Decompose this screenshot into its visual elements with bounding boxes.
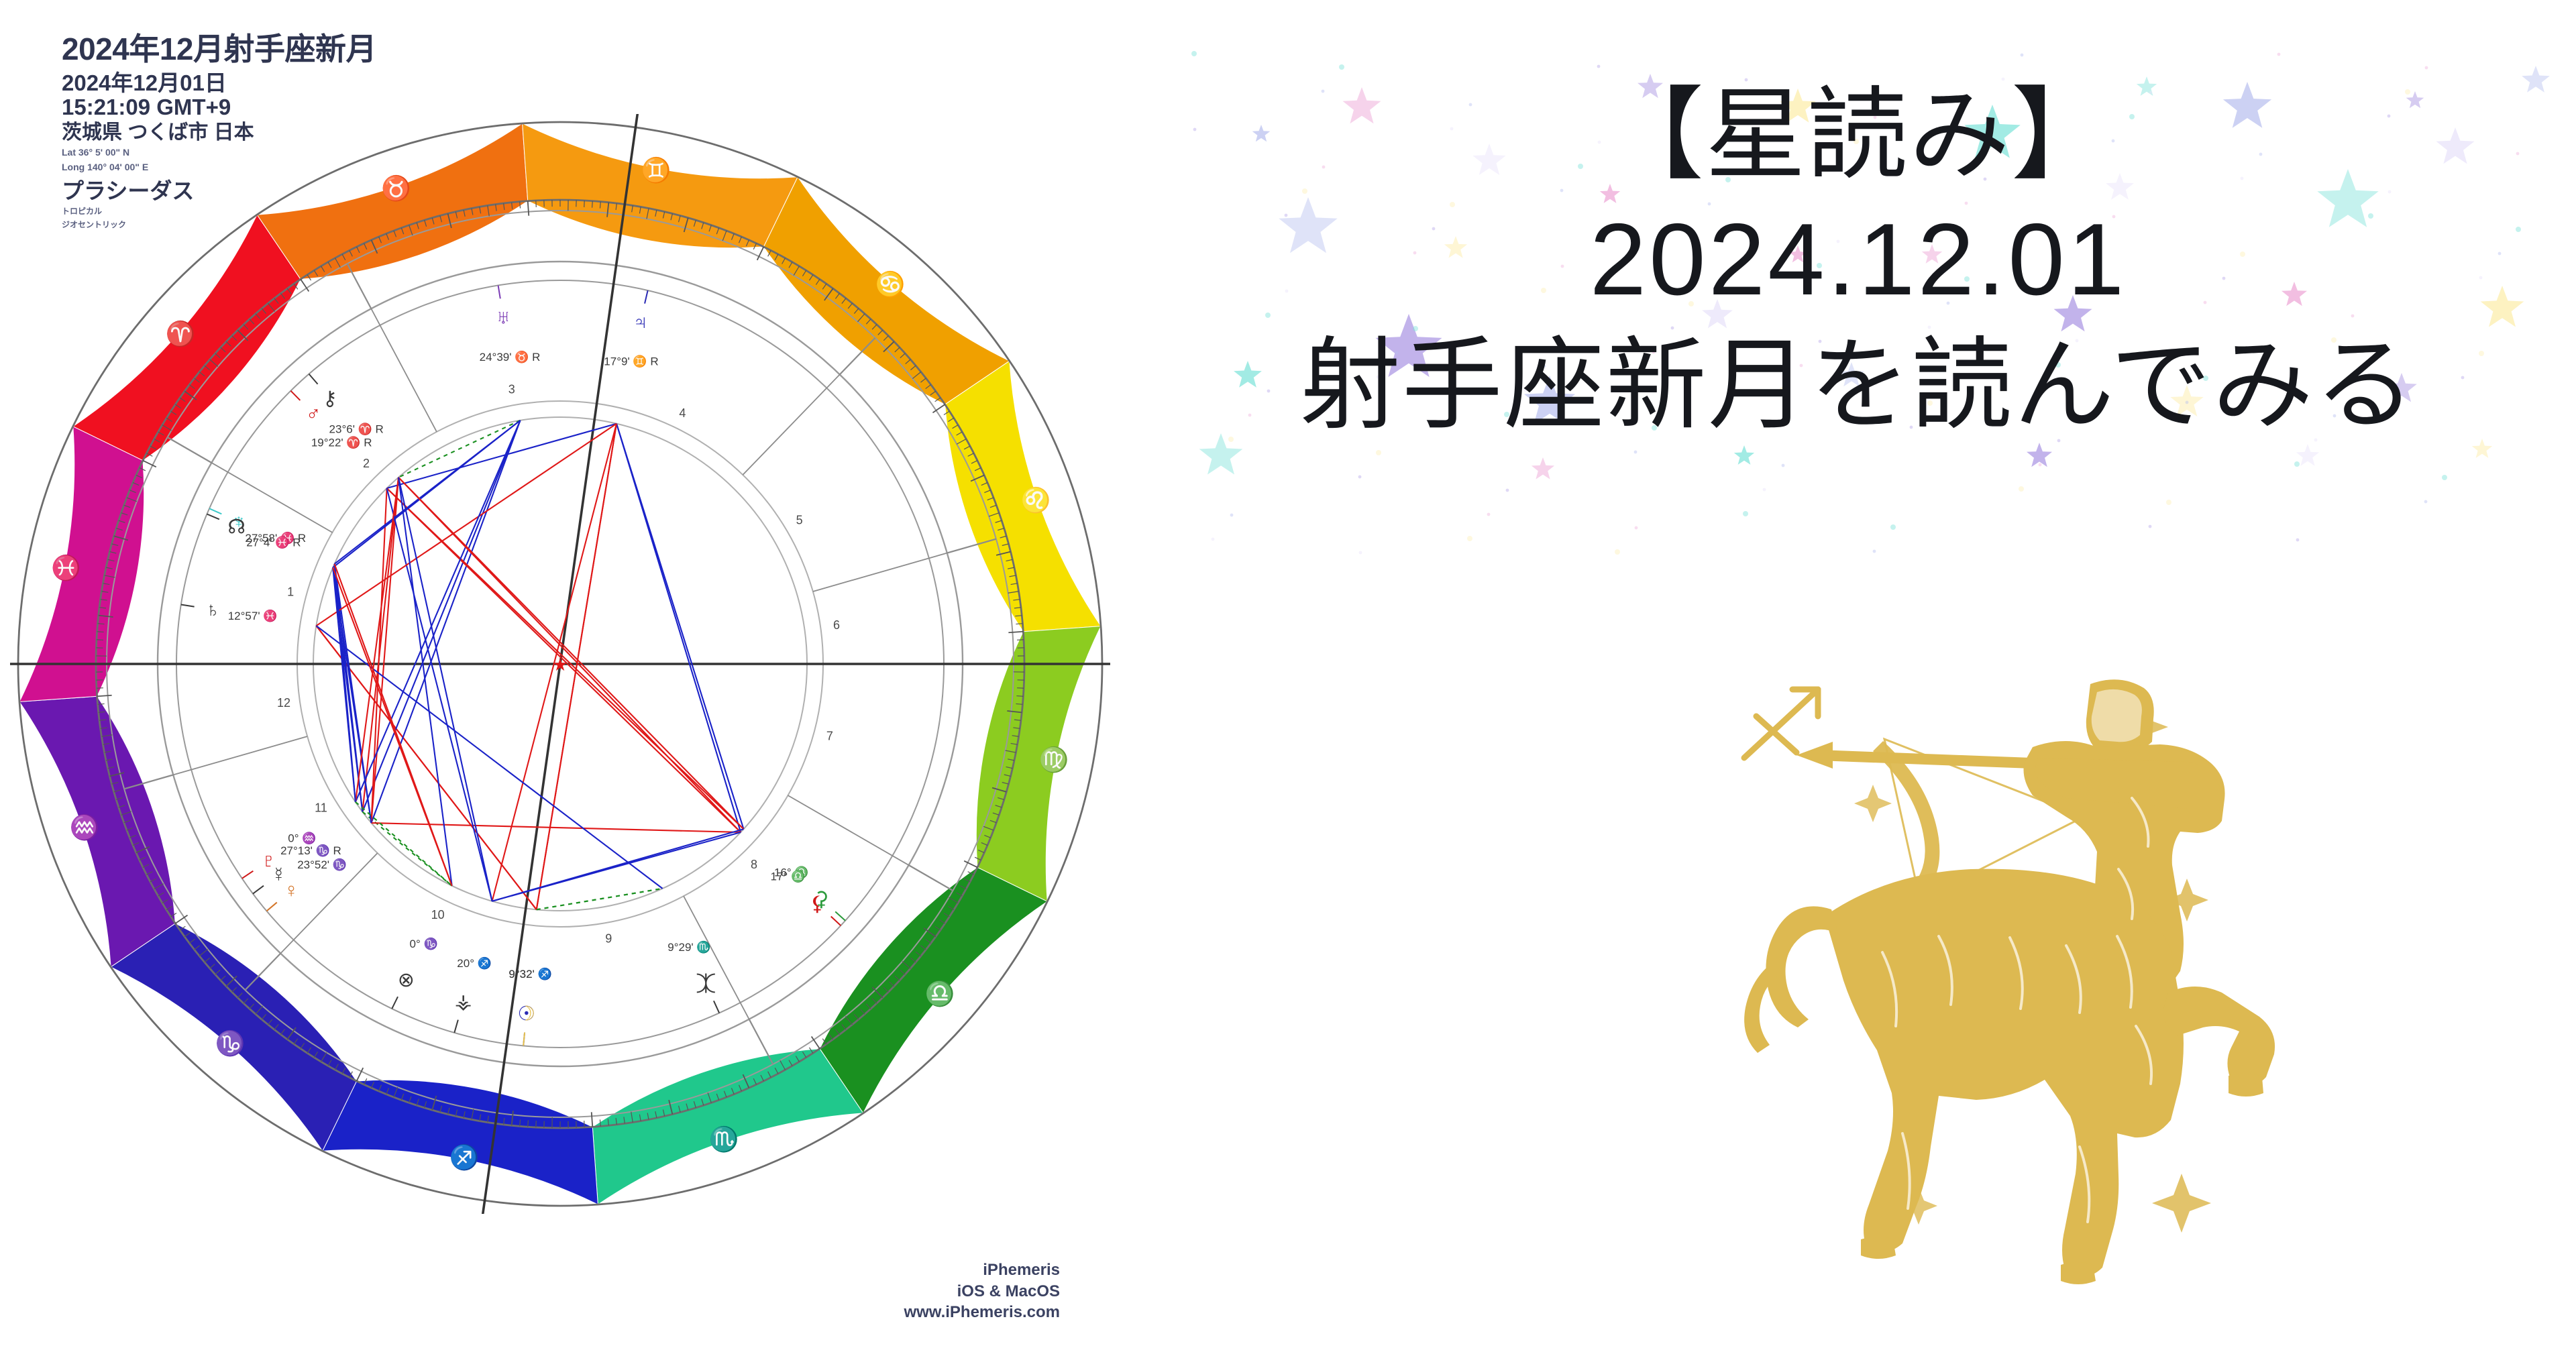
sign-glyph-sagittarius: ♐ bbox=[449, 1143, 479, 1171]
house-number-11: 11 bbox=[315, 801, 327, 814]
headline-line-1: 【星読み】 bbox=[1140, 74, 2576, 196]
sign-glyph-capricorn: ♑ bbox=[215, 1029, 246, 1057]
decorative-dot bbox=[1467, 536, 1472, 541]
planet-lilith: ⚸17° ♎ bbox=[771, 869, 825, 915]
decorative-dot bbox=[1873, 550, 1876, 553]
svg-text:♃: ♃ bbox=[633, 311, 648, 333]
credit-platform: iOS & MacOS bbox=[778, 1281, 1060, 1302]
svg-text:9°32' ♐: 9°32' ♐ bbox=[508, 967, 551, 980]
svg-text:☽: ☽ bbox=[517, 1003, 535, 1025]
svg-text:⚷: ⚷ bbox=[323, 388, 337, 410]
svg-text:9°29' ♏: 9°29' ♏ bbox=[667, 940, 710, 954]
svg-text:♀: ♀ bbox=[284, 880, 299, 902]
decorative-dot bbox=[1743, 511, 1748, 516]
chart-title: 2024年12月射手座新月 bbox=[62, 32, 376, 67]
planet-uranus: ♅24°39' ♉ R bbox=[480, 306, 541, 363]
decorative-dot bbox=[2019, 486, 2024, 492]
decorative-dot bbox=[1635, 526, 1638, 530]
decorative-dot bbox=[1487, 513, 1491, 516]
decorative-dot bbox=[1634, 451, 1638, 454]
natal-chart-panel: 2024年12月射手座新月 2024年12月01日 15:21:09 GMT+9… bbox=[0, 0, 1140, 1348]
decorative-dot bbox=[2424, 500, 2428, 504]
app-credits: iPhemeris iOS & MacOS www.iPhemeris.com bbox=[778, 1259, 1060, 1323]
decorative-dot bbox=[2039, 463, 2042, 467]
planet-eris: ⯰9°29' ♏ bbox=[667, 940, 716, 995]
svg-text:♅: ♅ bbox=[496, 306, 511, 329]
zodiac-wheel: 123456789101112 ☉9°32' ♐☽9°32' ♐☿27°13' … bbox=[10, 114, 1110, 1214]
svg-text:0° ♑: 0° ♑ bbox=[410, 937, 438, 950]
decorative-dot bbox=[1230, 514, 1234, 517]
headline-line-3: 射手座新月を読んでみる bbox=[1140, 323, 2576, 447]
sign-glyph-aries: ♈ bbox=[166, 320, 196, 347]
decorative-star bbox=[1532, 457, 1554, 480]
chart-center-marker: ★ bbox=[552, 655, 568, 675]
house-number-2: 2 bbox=[363, 457, 370, 470]
svg-text:27°4' ♓ R: 27°4' ♓ R bbox=[246, 536, 301, 549]
decorative-dot bbox=[2294, 461, 2300, 467]
svg-text:⯰: ⯰ bbox=[696, 973, 716, 995]
svg-text:23°6' ♈ R: 23°6' ♈ R bbox=[329, 422, 384, 435]
headline-block: 【星読み】 2024.12.01 射手座新月を読んでみる bbox=[1140, 74, 2576, 447]
house-number-6: 6 bbox=[833, 618, 840, 632]
decorative-dot bbox=[1763, 488, 1766, 492]
svg-text:⚸: ⚸ bbox=[810, 893, 824, 915]
sign-glyph-libra: ♎ bbox=[925, 980, 955, 1007]
decorative-dot bbox=[2425, 66, 2428, 70]
decorative-dot bbox=[1597, 65, 1601, 68]
decorative-dot bbox=[1890, 524, 1896, 530]
svg-text:20° ♐: 20° ♐ bbox=[457, 956, 492, 970]
credit-website: www.iPhemeris.com bbox=[778, 1302, 1060, 1323]
decorative-dot bbox=[2442, 475, 2447, 480]
svg-text:24°39' ♉ R: 24°39' ♉ R bbox=[480, 350, 541, 363]
sign-glyph-taurus: ♉ bbox=[381, 174, 411, 202]
planet-glyph-labels: ☉9°32' ♐☽9°32' ♐☿27°13' ♑ R♀23°52' ♑♂19°… bbox=[181, 286, 845, 1046]
planet-vertex: ⚶20° ♐ bbox=[455, 956, 492, 1013]
planet-part-of-fortune: ⊗0° ♑ bbox=[398, 937, 438, 991]
house-number-5: 5 bbox=[796, 514, 803, 527]
house-number-10: 10 bbox=[431, 908, 445, 921]
svg-text:☊: ☊ bbox=[227, 516, 246, 538]
svg-text:♇: ♇ bbox=[261, 850, 276, 872]
svg-text:⚶: ⚶ bbox=[455, 991, 472, 1013]
svg-text:27°13' ♑ R: 27°13' ♑ R bbox=[280, 844, 341, 857]
decorative-dot bbox=[1212, 538, 1215, 541]
chart-date: 2024年12月01日 bbox=[62, 71, 376, 96]
decorative-dot bbox=[2149, 525, 2152, 528]
sign-glyph-aquarius: ♒ bbox=[69, 813, 99, 841]
sign-glyph-gemini: ♊ bbox=[641, 156, 672, 184]
decorative-dot bbox=[1506, 489, 1509, 492]
planet-jupiter: ♃17°9' ♊ R bbox=[604, 311, 658, 368]
planet-moon: ☽9°32' ♐ bbox=[508, 967, 551, 1025]
house-number-9: 9 bbox=[605, 932, 612, 946]
decorative-dot bbox=[2296, 539, 2300, 542]
decorative-dot bbox=[1339, 64, 1344, 70]
decorative-dot bbox=[2277, 53, 2281, 56]
house-number-8: 8 bbox=[751, 858, 757, 871]
house-number-1: 1 bbox=[287, 585, 294, 598]
sagittarius-centaur-icon bbox=[1717, 677, 2321, 1288]
house-number-12: 12 bbox=[277, 696, 290, 710]
sign-glyph-pisces: ♓ bbox=[51, 554, 81, 581]
sign-segment-gemini bbox=[523, 123, 798, 248]
decorative-star bbox=[1734, 445, 1754, 465]
svg-text:19°22' ♈ R: 19°22' ♈ R bbox=[311, 436, 372, 449]
svg-text:17° ♎: 17° ♎ bbox=[771, 869, 806, 883]
svg-text:17°9' ♊ R: 17°9' ♊ R bbox=[604, 354, 658, 368]
svg-text:12°57' ♓: 12°57' ♓ bbox=[228, 609, 278, 622]
sign-glyph-cancer: ♋ bbox=[875, 270, 906, 298]
decorative-dot bbox=[1358, 475, 1362, 479]
decorative-dot bbox=[1359, 551, 1362, 555]
headline-line-2: 2024.12.01 bbox=[1140, 196, 2576, 323]
decorative-dot bbox=[1376, 450, 1381, 455]
title-art-panel: 【星読み】 2024.12.01 射手座新月を読んでみる bbox=[1140, 0, 2576, 1348]
svg-text:⊗: ⊗ bbox=[398, 969, 415, 991]
svg-text:♄: ♄ bbox=[205, 599, 221, 621]
svg-text:23°52' ♑: 23°52' ♑ bbox=[297, 858, 347, 871]
sign-segment-sagittarius bbox=[323, 1080, 598, 1204]
house-number-3: 3 bbox=[508, 382, 515, 396]
decorative-dot bbox=[1615, 549, 1620, 555]
decorative-dot bbox=[1782, 464, 1785, 467]
svg-text:♂: ♂ bbox=[306, 403, 321, 425]
credit-app-name: iPhemeris bbox=[778, 1259, 1060, 1281]
decorative-dot bbox=[1191, 51, 1197, 56]
house-number-7: 7 bbox=[826, 730, 833, 743]
sign-glyph-scorpio: ♏ bbox=[709, 1125, 739, 1153]
svg-text:0° ♒: 0° ♒ bbox=[288, 831, 316, 844]
sign-segment-pisces bbox=[19, 427, 144, 702]
sign-glyph-leo: ♌ bbox=[1021, 486, 1051, 514]
sign-glyph-virgo: ♍ bbox=[1039, 746, 1069, 773]
planet-chiron: ⚷23°6' ♈ R bbox=[323, 388, 384, 435]
planet-saturn: ♄12°57' ♓ bbox=[205, 599, 277, 622]
house-number-4: 4 bbox=[679, 406, 686, 420]
decorative-dot bbox=[2166, 500, 2171, 505]
decorative-dot bbox=[2021, 54, 2024, 57]
